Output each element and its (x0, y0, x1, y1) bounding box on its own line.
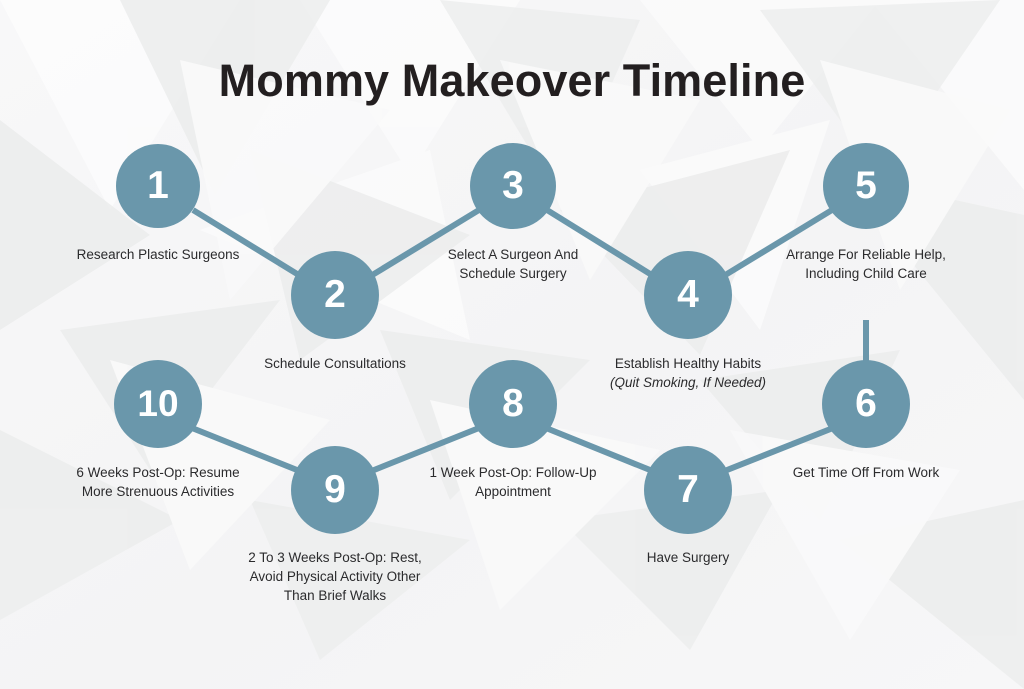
connector-1-to-2 (193, 210, 302, 277)
node-label-main: Schedule Consultations (264, 356, 406, 371)
timeline-node-4[interactable]: 4 (644, 251, 732, 339)
node-label-3: Select A Surgeon And Schedule Surgery (423, 245, 603, 283)
node-label-6: Get Time Off From Work (786, 463, 946, 482)
page-title: Mommy Makeover Timeline (0, 55, 1024, 107)
node-label-8: 1 Week Post-Op: Follow-Up Appointment (423, 463, 603, 501)
timeline-node-2[interactable]: 2 (291, 251, 379, 339)
node-label-sub: (Quit Smoking, If Needed) (588, 373, 788, 392)
node-number: 2 (324, 275, 346, 314)
node-label-main: 1 Week Post-Op: Follow-Up Appointment (429, 465, 596, 499)
node-label-5: Arrange For Reliable Help, Including Chi… (776, 245, 956, 283)
timeline-node-5[interactable]: 5 (823, 143, 909, 229)
node-label-9: 2 To 3 Weeks Post-Op: Rest, Avoid Physic… (245, 548, 425, 605)
timeline-node-6[interactable]: 6 (822, 360, 910, 448)
timeline-node-1[interactable]: 1 (116, 144, 200, 228)
node-label-4: Establish Healthy Habits(Quit Smoking, I… (588, 354, 788, 392)
node-label-main: 6 Weeks Post-Op: Resume More Strenuous A… (76, 465, 239, 499)
node-label-main: 2 To 3 Weeks Post-Op: Rest, Avoid Physic… (248, 550, 422, 603)
node-label-main: Arrange For Reliable Help, Including Chi… (786, 247, 946, 281)
node-label-main: Get Time Off From Work (793, 465, 940, 480)
node-label-main: Select A Surgeon And Schedule Surgery (448, 247, 579, 281)
node-number: 4 (677, 275, 699, 314)
timeline-node-10[interactable]: 10 (114, 360, 202, 448)
node-number: 7 (677, 470, 699, 509)
node-label-main: Research Plastic Surgeons (77, 247, 240, 262)
timeline-node-7[interactable]: 7 (644, 446, 732, 534)
node-number: 6 (855, 384, 877, 423)
node-label-7: Have Surgery (608, 548, 768, 567)
node-number: 9 (324, 470, 346, 509)
node-label-1: Research Plastic Surgeons (68, 245, 248, 264)
timeline-node-9[interactable]: 9 (291, 446, 379, 534)
node-number: 1 (147, 166, 169, 205)
node-number: 10 (137, 385, 178, 422)
timeline-node-3[interactable]: 3 (470, 143, 556, 229)
infographic-canvas: Mommy Makeover Timeline 1Research Plasti… (0, 0, 1024, 689)
node-number: 5 (855, 166, 877, 205)
node-label-10: 6 Weeks Post-Op: Resume More Strenuous A… (68, 463, 248, 501)
node-number: 8 (502, 384, 524, 423)
node-label-main: Have Surgery (647, 550, 730, 565)
node-label-2: Schedule Consultations (235, 354, 435, 373)
timeline-node-8[interactable]: 8 (469, 360, 557, 448)
node-number: 3 (502, 166, 524, 205)
node-label-main: Establish Healthy Habits (615, 356, 761, 371)
